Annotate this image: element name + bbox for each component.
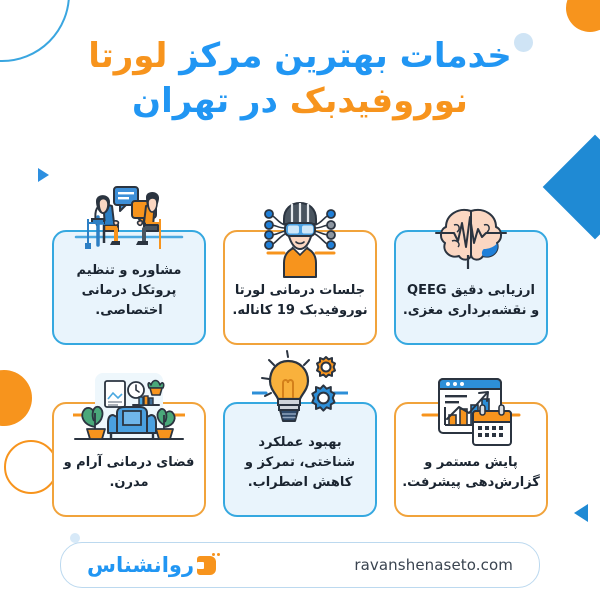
title-line-1-orange: لورتا: [88, 36, 167, 76]
brand-logo[interactable]: روانشناس: [87, 553, 223, 577]
card-label: مشاوره و تنظیم پروتکل درمانی اختصاصی.: [54, 261, 204, 335]
brand-mark-icon: [197, 553, 223, 577]
lightbulb-gears-icon: [225, 349, 375, 431]
service-card-qeeg-assessment[interactable]: ارزیابی دقیق QEEG و نقشه‌برداری مغزی.: [388, 178, 554, 345]
service-card-grid: ارزیابی دقیق QEEG و نقشه‌برداری مغزی.: [46, 178, 554, 517]
card-label: جلسات درمانی لورتا نوروفیدبک 19 کاناله.: [225, 281, 375, 335]
counseling-session-icon: [54, 178, 204, 259]
brain-icon: [396, 195, 546, 279]
therapy-room-icon: [54, 367, 204, 451]
service-card-consultation-protocol[interactable]: مشاوره و تنظیم پروتکل درمانی اختصاصی.: [46, 178, 212, 345]
footer-bar: روانشناس ravanshenaseto.com: [60, 542, 540, 588]
service-card-modern-therapy-space[interactable]: فضای درمانی آرام و مدرن.: [46, 350, 212, 517]
card-label: ارزیابی دقیق QEEG و نقشه‌برداری مغزی.: [396, 281, 546, 335]
eeg-headset-person-icon: [225, 195, 375, 279]
site-url[interactable]: ravanshenaseto.com: [354, 556, 513, 574]
decor-triangle-blue-right: [574, 504, 588, 522]
title-line-2-blue: در تهران: [132, 81, 278, 121]
title-line-2: نوروفیدبک در تهران: [0, 79, 600, 124]
card-label: پایش مستمر و گزارش‌دهی پیشرفت.: [396, 453, 546, 507]
decor-circle-orange-left: [0, 370, 32, 426]
service-card-progress-monitoring[interactable]: پایش مستمر و گزارش‌دهی پیشرفت.: [388, 350, 554, 517]
brand-name: روانشناس: [87, 553, 194, 577]
infographic-page: خدمات بهترین مرکز لورتا نوروفیدبک در تهر…: [0, 0, 600, 600]
page-title: خدمات بهترین مرکز لورتا نوروفیدبک در تهر…: [0, 34, 600, 124]
service-card-loreta-sessions[interactable]: جلسات درمانی لورتا نوروفیدبک 19 کاناله.: [217, 178, 383, 345]
title-line-2-orange: نوروفیدبک: [290, 81, 468, 121]
service-card-cognitive-improvement[interactable]: بهبود عملکرد شناختی، تمرکز و کاهش اضطراب…: [217, 350, 383, 517]
chart-calendar-icon: [396, 367, 546, 451]
title-line-1-blue: خدمات بهترین مرکز: [179, 36, 512, 76]
decor-circle-orange-top-right: [566, 0, 600, 32]
card-label: بهبود عملکرد شناختی، تمرکز و کاهش اضطراب…: [225, 433, 375, 507]
card-label: فضای درمانی آرام و مدرن.: [54, 453, 204, 507]
title-line-1: خدمات بهترین مرکز لورتا: [0, 34, 600, 79]
